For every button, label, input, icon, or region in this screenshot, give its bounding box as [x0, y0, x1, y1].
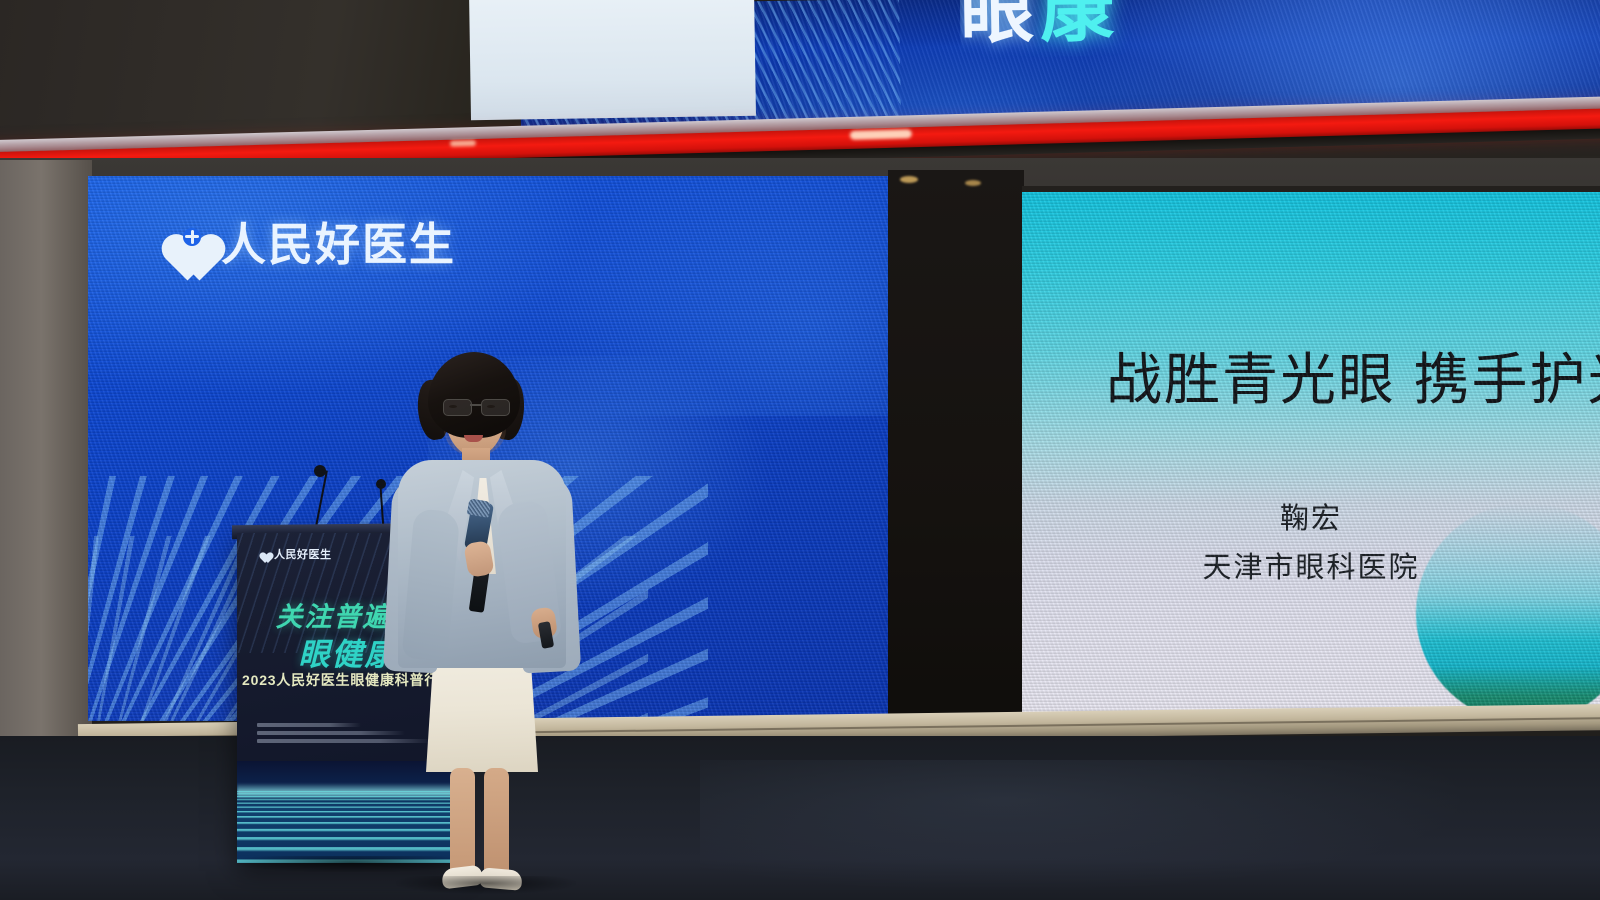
- leg-right: [484, 768, 509, 876]
- slide-speaker-org: 天津市眼科医院: [1022, 544, 1600, 586]
- slide-title: 战胜青光眼 携手护光: [1106, 335, 1600, 416]
- upper-led-accent-char: 康: [1039, 0, 1120, 51]
- slide-speaker-name: 鞠宏: [1022, 495, 1600, 537]
- glasses-lens-left: [443, 399, 472, 416]
- presenter: [392, 352, 582, 892]
- lectern-logo-text: 人民好医生: [274, 546, 332, 562]
- ceiling-spotlight-1: [900, 176, 918, 183]
- presentation-slide: 战胜青光眼 携手护光 鞠宏 天津市眼科医院: [1022, 192, 1600, 729]
- glasses-bridge: [470, 404, 482, 406]
- ceiling-left-panel: [0, 0, 540, 140]
- glasses-lens-right: [481, 399, 510, 416]
- upper-led-text-char: 眼: [959, 0, 1040, 52]
- wall-left-column: [0, 160, 92, 760]
- stage-scene: 眼康 人民好医生 战胜青光眼 携手护光 鞠宏 天津市眼科医院: [0, 0, 1600, 900]
- gooseneck-microphone-1-head: [314, 465, 326, 477]
- heart-icon: [152, 215, 208, 267]
- hair: [428, 352, 520, 438]
- brand-logo: 人民好医生: [152, 208, 456, 273]
- presenter-shadow: [396, 876, 576, 894]
- ceiling-spotlight-2: [965, 180, 981, 186]
- lectern-fine-print-line: [257, 723, 361, 727]
- screen-gap-wall: [888, 170, 1024, 740]
- red-strip-highlight: [850, 129, 912, 140]
- heart-icon: [257, 548, 270, 560]
- upper-led-text: 眼康: [959, 0, 1380, 58]
- eye-right: [487, 405, 495, 408]
- brand-logo-text: 人民好医生: [221, 208, 456, 273]
- lectern-fine-print-line: [257, 731, 405, 735]
- medical-cross-icon: [183, 228, 201, 246]
- leg-left: [450, 768, 475, 876]
- lectern-logo: 人民好医生: [257, 546, 332, 562]
- gooseneck-microphone-2-head: [376, 479, 386, 489]
- floor-light-sheen: [700, 760, 1460, 890]
- red-strip-highlight-2: [450, 140, 476, 147]
- eye-left: [449, 405, 457, 408]
- ceiling-light-box: [469, 0, 756, 120]
